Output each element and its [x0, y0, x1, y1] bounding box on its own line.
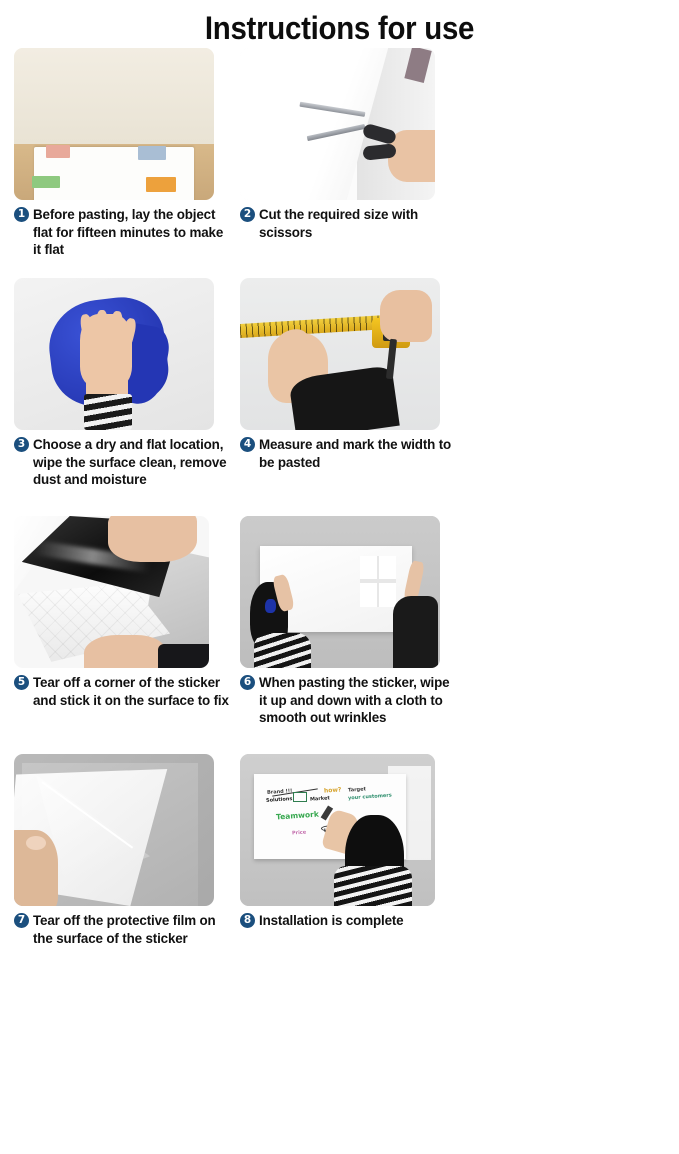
finger — [96, 310, 108, 343]
step-card-8: Brand !!! Solutions Market how? Target y… — [236, 754, 462, 954]
step-caption-8: 8 Installation is complete — [240, 912, 458, 930]
person-left — [250, 577, 318, 668]
step-card-6: 6 When pasting the sticker, wipe it up a… — [236, 516, 462, 754]
striped-shirt — [254, 633, 311, 668]
notebook-orange — [146, 177, 176, 192]
hand-bottom — [84, 635, 166, 668]
hand-top — [108, 516, 198, 562]
step-text-7: Tear off the protective film on the surf… — [33, 912, 232, 947]
note-your-customers: your customers — [348, 793, 392, 802]
step-text-1: Before pasting, lay the object flat for … — [33, 206, 232, 259]
note-solutions: Solutions — [266, 796, 293, 804]
step-card-2: 2 Cut the required size with scissors — [236, 48, 462, 278]
notebook-green — [32, 176, 60, 188]
step-caption-4: 4 Measure and mark the width to be paste… — [240, 436, 458, 471]
step-number-badge-5: 5 — [14, 675, 29, 690]
step-card-4: 4 Measure and mark the width to be paste… — [236, 278, 462, 516]
notebook-blue — [138, 146, 166, 160]
step-text-2: Cut the required size with scissors — [259, 206, 458, 241]
step-caption-6: 6 When pasting the sticker, wipe it up a… — [240, 674, 458, 727]
step-text-4: Measure and mark the width to be pasted — [259, 436, 458, 471]
step-card-1: 1 Before pasting, lay the object flat fo… — [10, 48, 236, 278]
fingernail — [26, 836, 46, 850]
step-text-6: When pasting the sticker, wipe it up and… — [259, 674, 458, 727]
step-card-3: 3 Choose a dry and flat location, wipe t… — [10, 278, 236, 508]
striped-sleeve — [84, 394, 132, 430]
page-title: Instructions for use — [27, 0, 652, 48]
striped-shirt — [334, 866, 412, 906]
notebook-pink — [46, 145, 70, 159]
step-image-5 — [14, 516, 209, 668]
wall-background — [14, 48, 214, 144]
step-text-3: Choose a dry and flat location, wipe the… — [33, 436, 232, 489]
black-cuff — [158, 644, 209, 668]
step-number-badge-3: 3 — [14, 437, 29, 452]
step-image-7 — [14, 754, 214, 906]
hand-right — [380, 290, 432, 342]
step-text-5: Tear off a corner of the sticker and sti… — [33, 674, 232, 709]
note-market: Market — [310, 795, 330, 802]
step-image-4 — [240, 278, 440, 430]
step-caption-1: 1 Before pasting, lay the object flat fo… — [14, 206, 232, 259]
note-price: Price — [291, 829, 306, 836]
dark-clothing — [393, 596, 438, 668]
blue-cloth — [265, 599, 276, 614]
step-image-6 — [240, 516, 440, 668]
note-how: how? — [323, 787, 341, 795]
step-number-badge-2: 2 — [240, 207, 255, 222]
step-number-badge-1: 1 — [14, 207, 29, 222]
step-caption-5: 5 Tear off a corner of the sticker and s… — [14, 674, 232, 709]
note-brand: Brand !!! — [267, 788, 293, 796]
step-number-badge-8: 8 — [240, 913, 255, 928]
note-target: Target — [348, 787, 366, 794]
step-number-badge-4: 4 — [240, 437, 255, 452]
step-number-badge-6: 6 — [240, 675, 255, 690]
step-caption-7: 7 Tear off the protective film on the su… — [14, 912, 232, 947]
step-number-badge-7: 7 — [14, 913, 29, 928]
step-image-1 — [14, 48, 214, 200]
step-text-8: Installation is complete — [259, 912, 458, 930]
step-card-7: 7 Tear off the protective film on the su… — [10, 754, 236, 954]
step-caption-2: 2 Cut the required size with scissors — [240, 206, 458, 241]
step-image-3 — [14, 278, 214, 430]
person-right — [388, 574, 440, 668]
drawn-cart-icon — [293, 792, 307, 801]
step-image-2 — [240, 48, 435, 200]
step-image-8: Brand !!! Solutions Market how? Target y… — [240, 754, 435, 906]
step-caption-3: 3 Choose a dry and flat location, wipe t… — [14, 436, 232, 489]
note-teamwork: Teamwork — [276, 810, 319, 822]
step-card-5: 5 Tear off a corner of the sticker and s… — [10, 516, 236, 754]
instruction-sheet: Instructions for use 1 Before pasting, l… — [0, 0, 679, 723]
empty-cell — [10, 954, 236, 1154]
steps-grid: 1 Before pasting, lay the object flat fo… — [0, 48, 679, 1154]
